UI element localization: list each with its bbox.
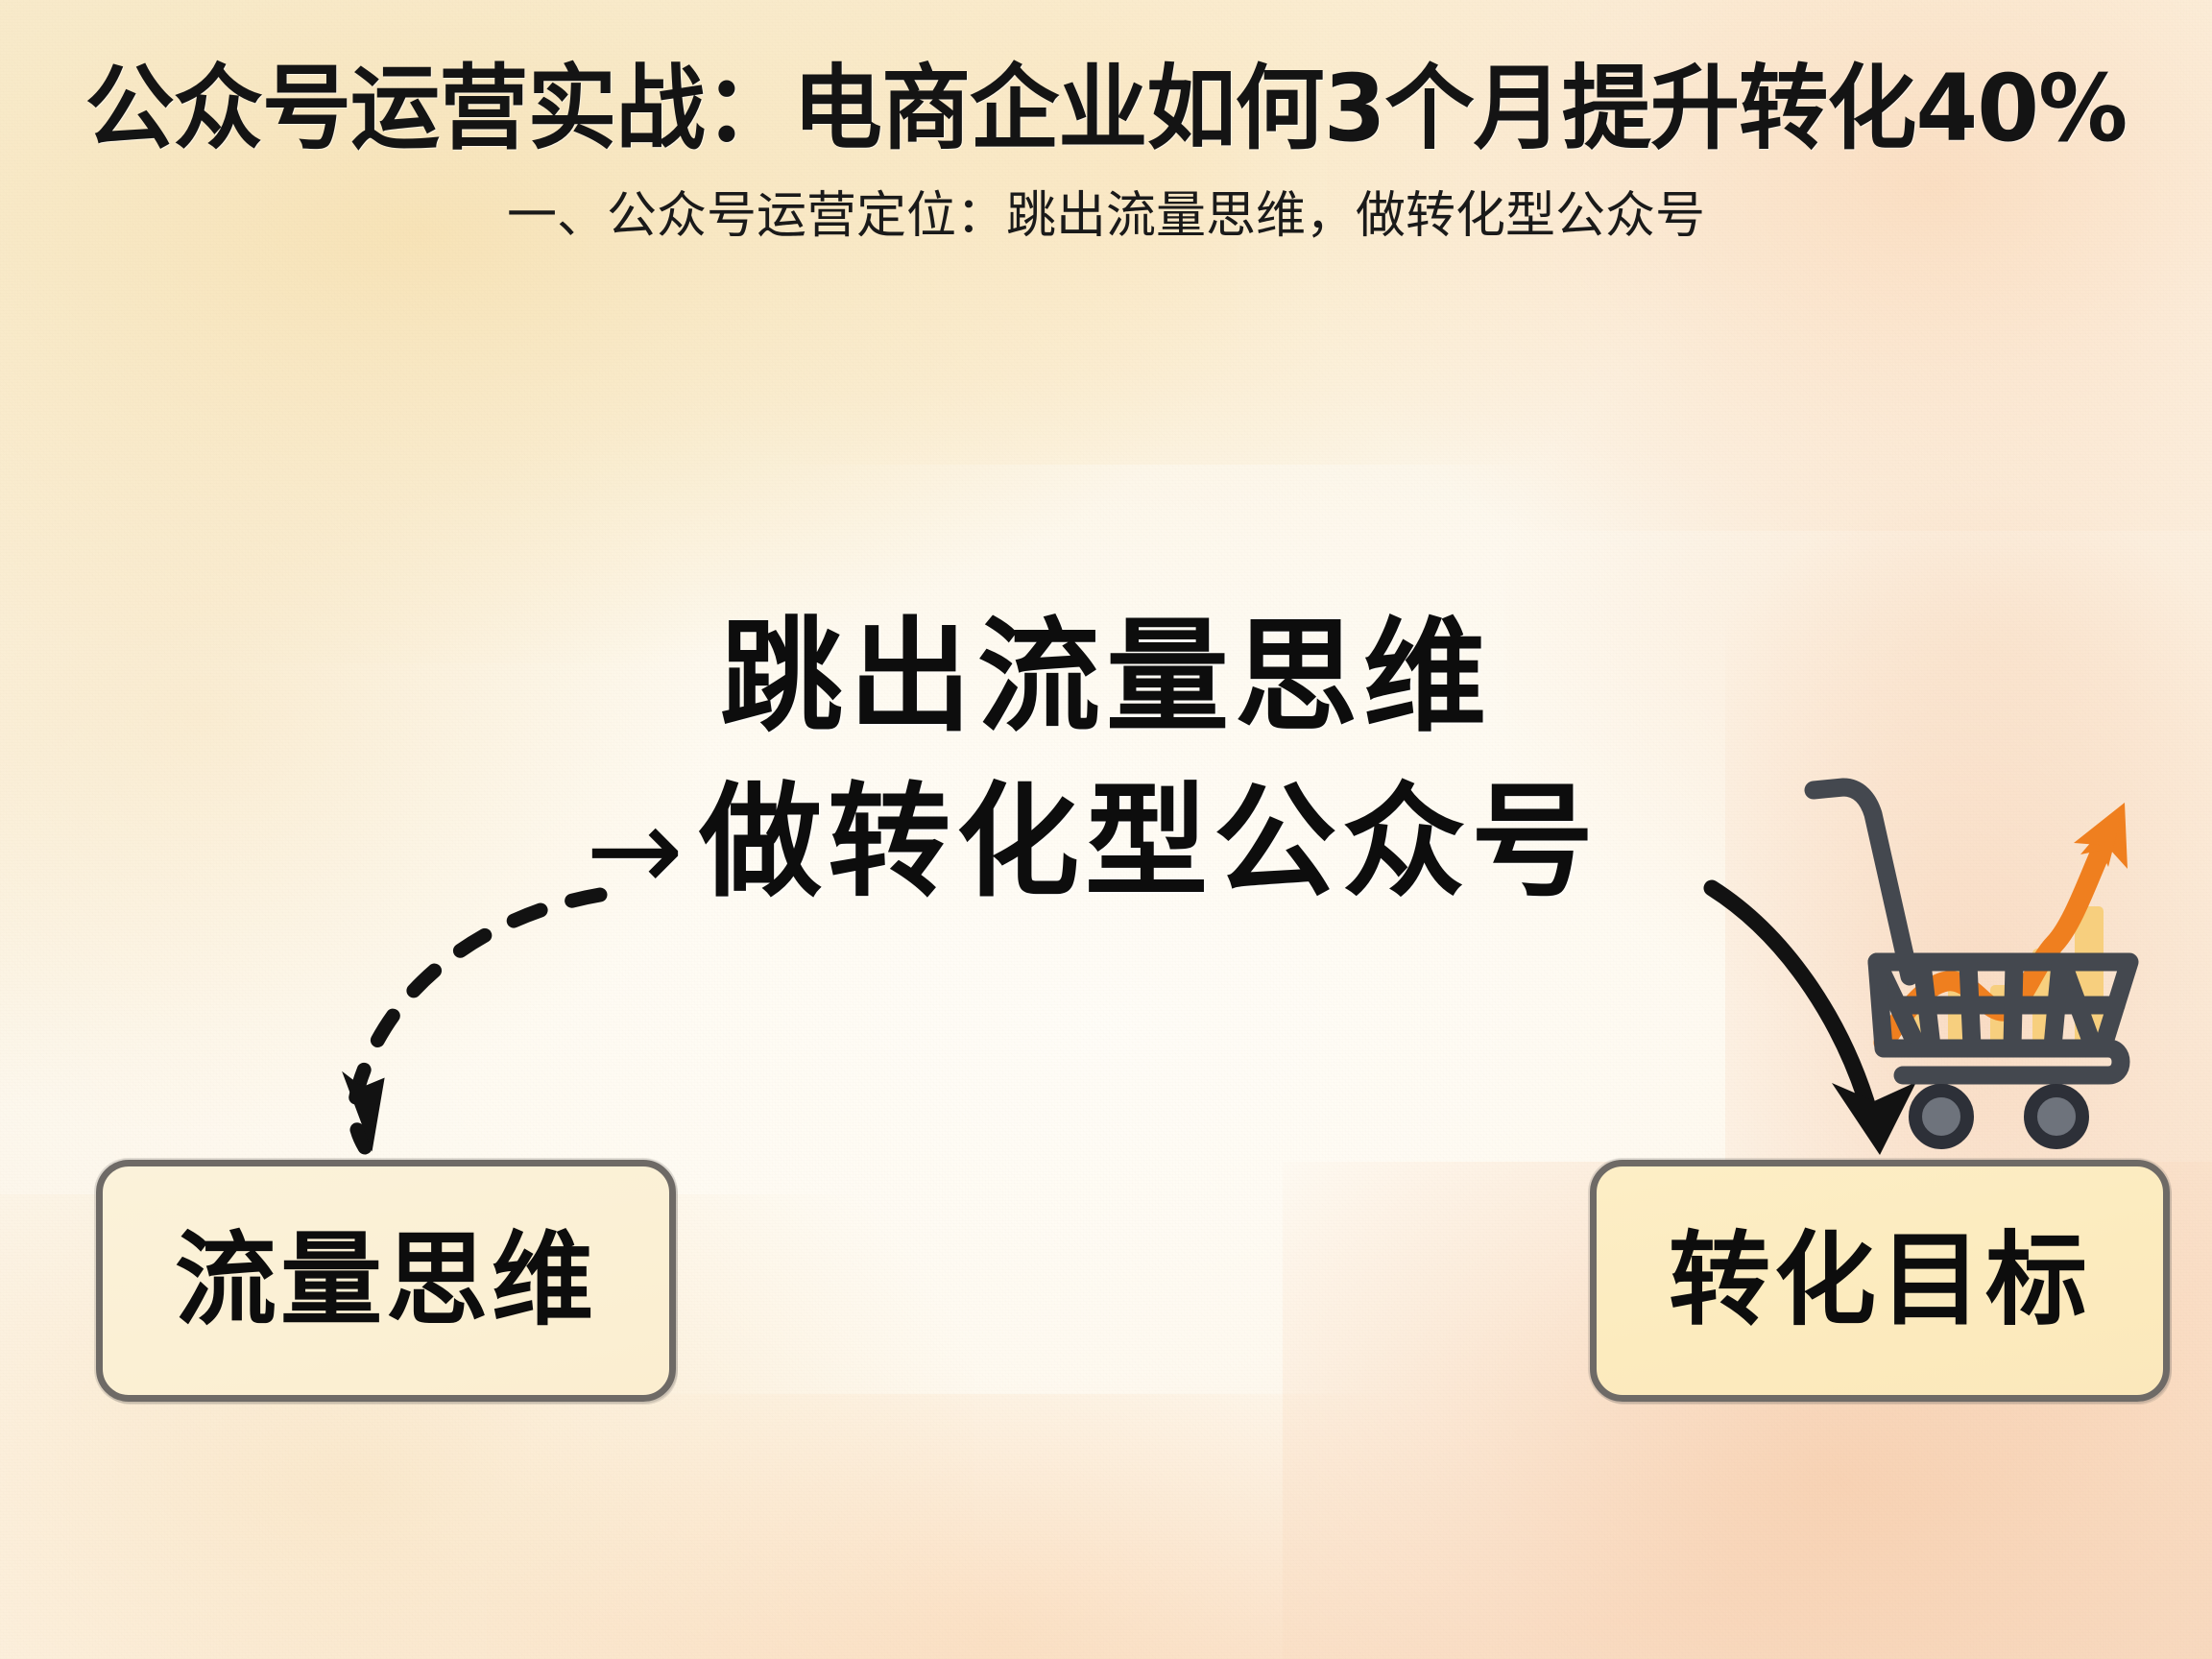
dashed-curved-arrow-to-left-box xyxy=(334,895,600,1152)
flow-box-traffic-mindset[interactable]: 流量思维 xyxy=(96,1160,676,1402)
watercolor-wash-right xyxy=(1504,265,2212,1028)
slide-header: 公众号运营实战：电商企业如何3个月提升转化40% 一、公众号运营定位：跳出流量思… xyxy=(0,58,2212,246)
flow-box-conversion-goal[interactable]: 转化目标 xyxy=(1590,1160,2170,1402)
watercolor-wash-left xyxy=(0,299,708,1128)
page-title: 公众号运营实战：电商企业如何3个月提升转化40% xyxy=(34,58,2179,161)
paper-background xyxy=(0,0,2212,1659)
central-statement: 跳出流量思维 →做转化型公众号 xyxy=(0,595,2212,928)
section-subtitle: 一、公众号运营定位：跳出流量思维，做转化型公众号 xyxy=(0,186,2212,246)
cart-wheels-icon xyxy=(1915,1091,2082,1142)
watercolor-wash-bottom-center xyxy=(487,1394,1504,1659)
connector-arrows-layer xyxy=(0,0,2212,1659)
slide-canvas: 公众号运营实战：电商企业如何3个月提升转化40% 一、公众号运营定位：跳出流量思… xyxy=(0,0,2212,1659)
cart-body-icon xyxy=(1814,787,2129,1075)
flow-box-left-label: 流量思维 xyxy=(175,1230,597,1332)
growth-bars-icon xyxy=(1906,906,2104,1045)
growth-arrow-icon xyxy=(1884,803,2128,1043)
flow-box-right-label: 转化目标 xyxy=(1669,1230,2091,1332)
paper-grain-texture xyxy=(0,0,2212,1659)
statement-line-1: 跳出流量思维 xyxy=(0,595,2212,760)
right-arrow-icon: → xyxy=(586,772,684,928)
solid-curved-arrow-to-right-box xyxy=(1712,888,1916,1155)
statement-line-2-text: 做转化型公众号 xyxy=(699,771,1599,914)
statement-line-2: →做转化型公众号 xyxy=(0,760,2199,928)
shopping-cart-growth-icon xyxy=(0,0,2212,1659)
